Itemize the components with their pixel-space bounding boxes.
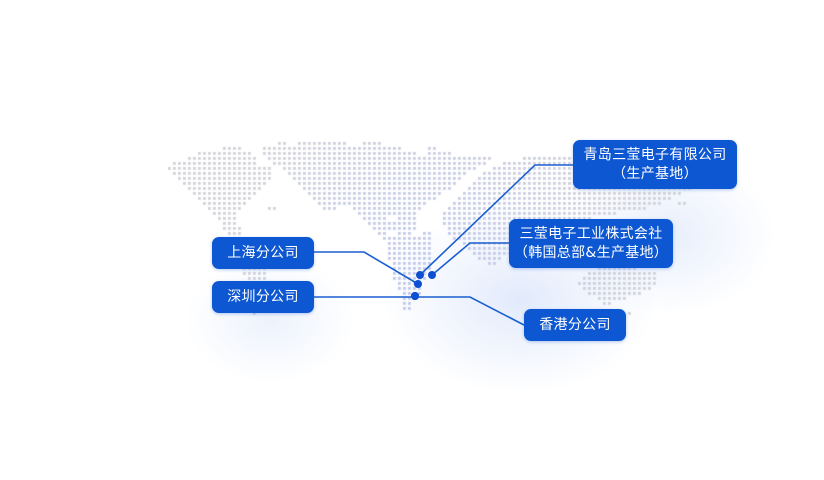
dotted-world-map [0, 0, 824, 480]
label-hongkong-title: 香港分公司 [539, 316, 611, 335]
label-shanghai-title: 上海分公司 [227, 244, 299, 263]
label-korea-headquarters[interactable]: 三莹电子工业株式会社 （韩国总部&生产基地） [509, 219, 673, 268]
label-korea-title: 三莹电子工业株式会社 [520, 225, 663, 244]
label-shenzhen-title: 深圳分公司 [227, 288, 299, 307]
label-korea-subtitle: （韩国总部&生产基地） [514, 244, 668, 263]
label-qingdao-subtitle: （生产基地） [612, 165, 698, 184]
label-qingdao-factory[interactable]: 青岛三莹电子有限公司 （生产基地） [573, 140, 737, 189]
label-shanghai-branch[interactable]: 上海分公司 [212, 237, 314, 269]
world-map-infographic: 青岛三莹电子有限公司 （生产基地） 三莹电子工业株式会社 （韩国总部&生产基地）… [0, 0, 824, 480]
label-qingdao-title: 青岛三莹电子有限公司 [584, 146, 727, 165]
label-shenzhen-branch[interactable]: 深圳分公司 [212, 281, 314, 313]
label-hongkong-branch[interactable]: 香港分公司 [524, 309, 626, 341]
